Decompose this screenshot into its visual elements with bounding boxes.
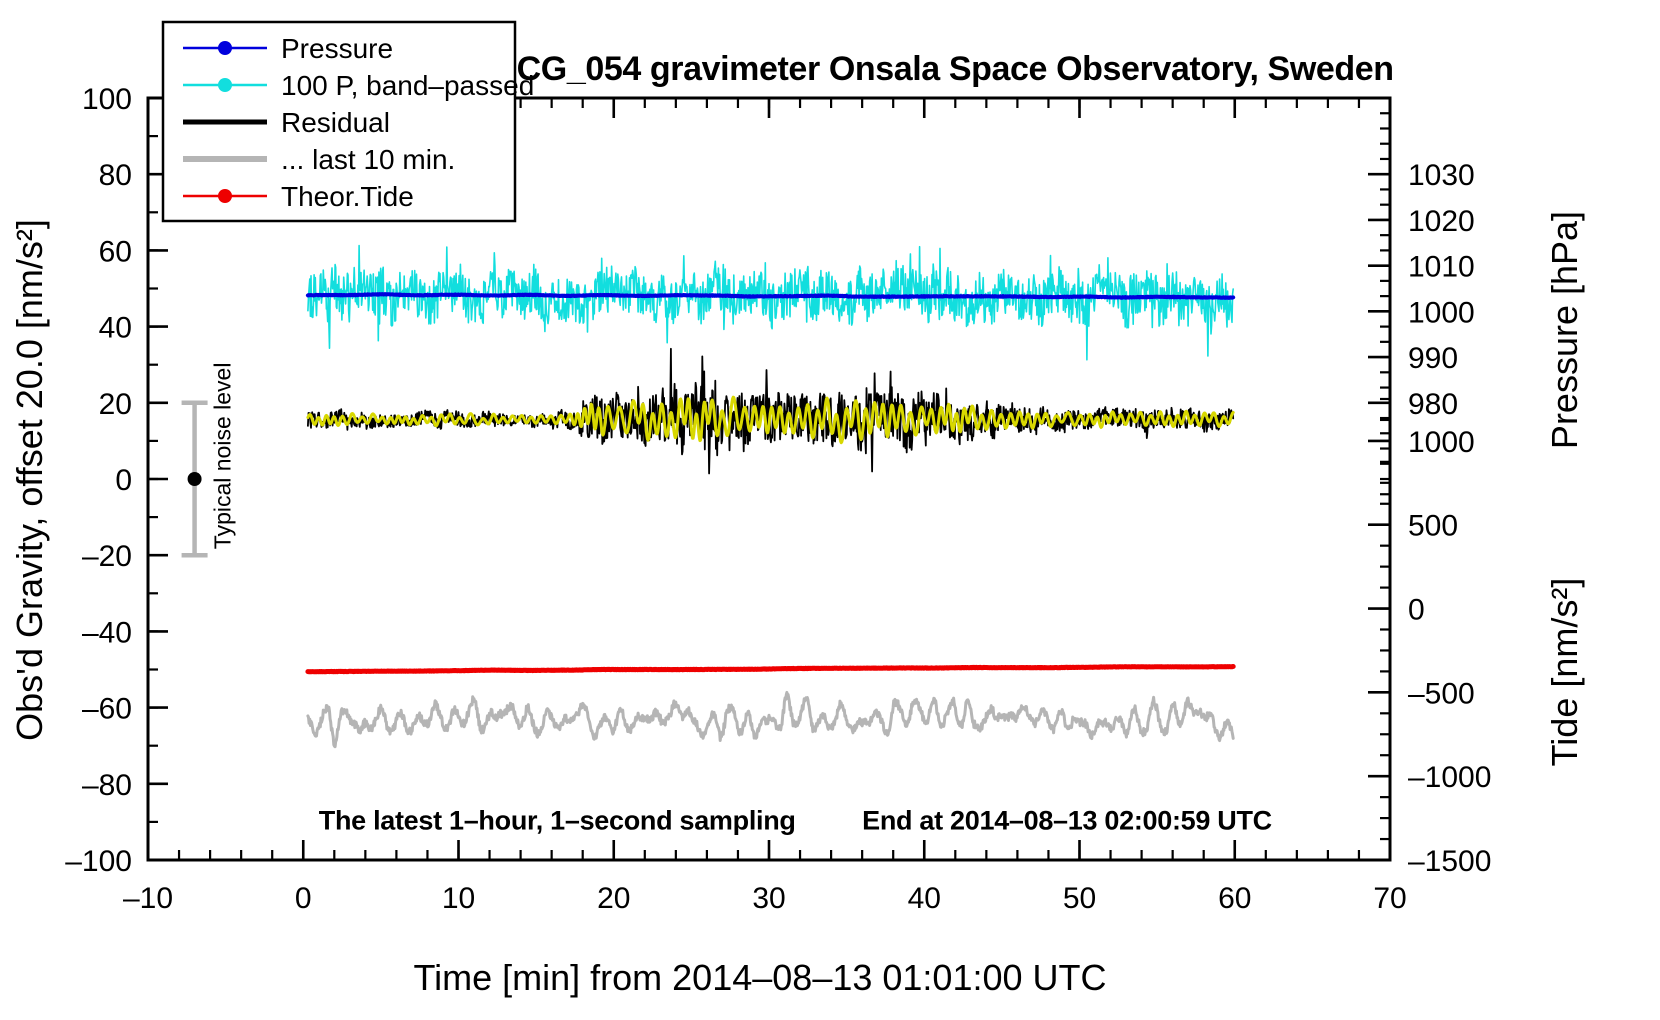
x-tick-label: 10 xyxy=(442,882,475,915)
annotation-bottom_right: End at 2014–08–13 02:00:59 UTC xyxy=(862,806,1272,836)
x-axis-title: Time [min] from 2014–08–13 01:01:00 UTC xyxy=(413,957,1106,998)
noise-level-label: Typical noise level xyxy=(210,363,236,550)
y-tick-label: 0 xyxy=(115,464,132,497)
page-title: SCG_054 gravimeter Onsala Space Observat… xyxy=(494,50,1393,88)
legend-label: Residual xyxy=(281,107,390,138)
tide-tick-label: –1000 xyxy=(1408,761,1491,794)
plot-annotations: The latest 1–hour, 1–second samplingEnd … xyxy=(319,806,1272,836)
noise-center-point xyxy=(188,472,202,486)
y-axis-title-pressure: Pressure [hPa] xyxy=(1544,211,1585,449)
gravimeter-chart: SCG_054 gravimeter Onsala Space Observat… xyxy=(0,0,1660,1020)
y-tick-label: 20 xyxy=(99,388,132,421)
legend-marker-dot xyxy=(218,78,232,92)
x-tick-label: –10 xyxy=(123,882,173,915)
x-tick-label: 30 xyxy=(752,882,785,915)
chart-legend[interactable]: Pressure100 P, band–passedResidual... la… xyxy=(163,22,534,221)
pressure-tick-label: 990 xyxy=(1408,342,1458,375)
x-tick-label: 0 xyxy=(295,882,312,915)
tide-tick-label: –1500 xyxy=(1408,845,1491,878)
legend-label: Pressure xyxy=(281,33,393,64)
y-tick-label: –40 xyxy=(82,616,132,649)
y-tick-label: 100 xyxy=(82,83,132,116)
x-tick-label: 60 xyxy=(1218,882,1251,915)
y-axis-title-left: Obs'd Gravity, offset 20.0 [nm/s²] xyxy=(9,219,50,741)
chart-root: SCG_054 gravimeter Onsala Space Observat… xyxy=(0,0,1660,1020)
legend-label: ... last 10 min. xyxy=(281,144,455,175)
annotation-bottom_left: The latest 1–hour, 1–second sampling xyxy=(319,806,796,836)
x-tick-label: 40 xyxy=(908,882,941,915)
y-tick-label: –20 xyxy=(82,540,132,573)
legend-marker-dot xyxy=(218,41,232,55)
tide-tick-label: –500 xyxy=(1408,677,1475,710)
y-tick-label: –100 xyxy=(65,845,132,878)
legend-marker-dot xyxy=(218,189,232,203)
x-tick-label: 20 xyxy=(597,882,630,915)
y-tick-label: –80 xyxy=(82,769,132,802)
y-tick-label: 40 xyxy=(99,312,132,345)
pressure-tick-label: 980 xyxy=(1408,388,1458,421)
legend-label: 100 P, band–passed xyxy=(281,70,534,101)
pressure-tick-label: 1020 xyxy=(1408,205,1475,238)
y-tick-label: 60 xyxy=(99,235,132,268)
y-axis-title-tide: Tide [nm/s²] xyxy=(1544,578,1585,767)
x-tick-label: 70 xyxy=(1373,882,1406,915)
x-tick-label: 50 xyxy=(1063,882,1096,915)
y-tick-label: –60 xyxy=(82,693,132,726)
pressure-tick-label: 1010 xyxy=(1408,251,1475,284)
legend-label: Theor.Tide xyxy=(281,181,414,212)
pressure-tick-label: 1030 xyxy=(1408,159,1475,192)
tide-tick-label: 500 xyxy=(1408,510,1458,543)
tide-tick-label: 0 xyxy=(1408,594,1425,627)
y-tick-label: 80 xyxy=(99,159,132,192)
tide-tick-label: 1000 xyxy=(1408,426,1475,459)
pressure-tick-label: 1000 xyxy=(1408,296,1475,329)
